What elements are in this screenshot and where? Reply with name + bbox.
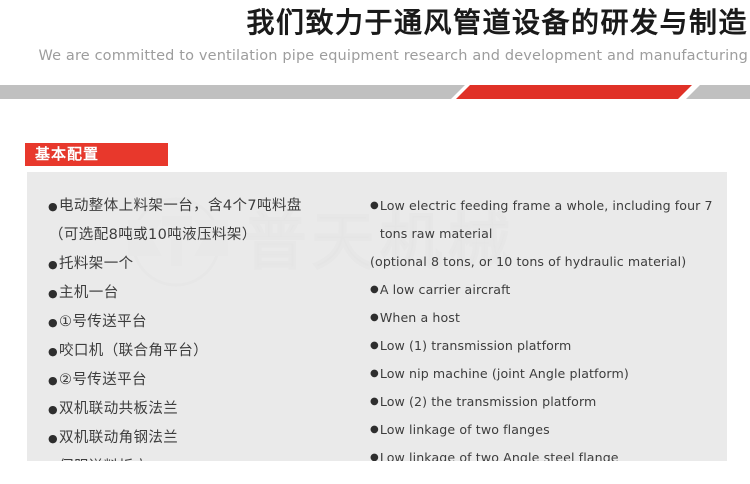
list-item: ● When a host — [370, 304, 722, 332]
section-label-text: 基本配置 — [35, 145, 99, 164]
bullet-icon: ● — [48, 424, 58, 453]
page-subtitle: We are committed to ventilation pipe equ… — [38, 46, 748, 66]
list-item-label: A low carrier aircraft — [380, 276, 722, 304]
list-item: ● Low electric feeding frame a whole, in… — [370, 192, 722, 248]
list-item: ● 主机一台 — [48, 279, 368, 308]
config-list-english: ● Low electric feeding frame a whole, in… — [370, 172, 722, 461]
bullet-icon: ● — [48, 337, 58, 366]
bullet-icon: ● — [370, 416, 379, 444]
bullet-icon: ● — [48, 192, 58, 221]
page-title: 我们致力于通风管道设备的研发与制造 — [246, 6, 748, 40]
list-item-label: Low nip machine (joint Angle platform) — [380, 360, 722, 388]
list-item-label: 咬口机（联合角平台） — [59, 337, 368, 366]
basic-configuration-panel: 普天机械 ● 电动整体上料架一台，含4个7吨料盘 （可选配8吨或10吨液压料架）… — [27, 172, 727, 461]
bullet-icon: ● — [370, 276, 379, 304]
list-item: ● ②号传送平台 — [48, 366, 368, 395]
bullet-icon: ● — [48, 308, 58, 337]
page-header: 我们致力于通风管道设备的研发与制造 We are committed to ve… — [0, 0, 750, 85]
bullet-icon: ● — [370, 332, 379, 360]
list-item-label: Low linkage of two flanges — [380, 416, 722, 444]
list-item-label: 双机联动共板法兰 — [59, 395, 368, 424]
list-item: ● 伺服送料折方 — [48, 453, 368, 461]
list-item: ● 双机联动共板法兰 — [48, 395, 368, 424]
bullet-icon: ● — [48, 453, 58, 461]
bullet-icon: ● — [48, 395, 58, 424]
config-list-chinese: ● 电动整体上料架一台，含4个7吨料盘 （可选配8吨或10吨液压料架） ● 托料… — [48, 172, 368, 461]
list-item-continuation: (optional 8 tons, or 10 tons of hydrauli… — [370, 248, 722, 276]
divider-gray-right-segment — [686, 85, 750, 99]
list-item: ● Low nip machine (joint Angle platform) — [370, 360, 722, 388]
list-item-label: Low electric feeding frame a whole, incl… — [380, 192, 722, 248]
bullet-icon: ● — [370, 444, 379, 461]
list-item: ● 电动整体上料架一台，含4个7吨料盘 — [48, 192, 368, 221]
list-item-label: 双机联动角钢法兰 — [59, 424, 368, 453]
list-item: ● Low (1) transmission platform — [370, 332, 722, 360]
list-item: ● ①号传送平台 — [48, 308, 368, 337]
bullet-icon: ● — [370, 388, 379, 416]
list-item-label: ①号传送平台 — [59, 308, 368, 337]
list-item-continuation: （可选配8吨或10吨液压料架） — [48, 221, 368, 250]
divider-stripe — [0, 85, 750, 99]
bullet-icon: ● — [48, 279, 58, 308]
list-item: ● 咬口机（联合角平台） — [48, 337, 368, 366]
section-label-badge: 基本配置 — [25, 143, 168, 166]
bullet-icon: ● — [48, 366, 58, 395]
list-item-label: Low (1) transmission platform — [380, 332, 722, 360]
list-item-label: Low (2) the transmission platform — [380, 388, 722, 416]
list-item-label: ②号传送平台 — [59, 366, 368, 395]
bullet-icon: ● — [370, 360, 379, 388]
list-item: ● 双机联动角钢法兰 — [48, 424, 368, 453]
list-item-label: 主机一台 — [59, 279, 368, 308]
divider-gray-left-segment — [0, 85, 465, 99]
bullet-icon: ● — [48, 250, 58, 279]
list-item: ● Low linkage of two Angle steel flange — [370, 444, 722, 461]
bullet-icon: ● — [370, 192, 379, 220]
list-item-label: When a host — [380, 304, 722, 332]
list-item: ● Low (2) the transmission platform — [370, 388, 722, 416]
list-item: ● Low linkage of two flanges — [370, 416, 722, 444]
list-item: ● 托料架一个 — [48, 250, 368, 279]
list-item-label: 托料架一个 — [59, 250, 368, 279]
list-item-label: 伺服送料折方 — [59, 453, 368, 461]
list-item-label: Low linkage of two Angle steel flange — [380, 444, 722, 461]
bullet-icon: ● — [370, 304, 379, 332]
list-item-label: 电动整体上料架一台，含4个7吨料盘 — [59, 192, 368, 221]
list-item: ● A low carrier aircraft — [370, 276, 722, 304]
divider-red-segment — [456, 85, 692, 99]
